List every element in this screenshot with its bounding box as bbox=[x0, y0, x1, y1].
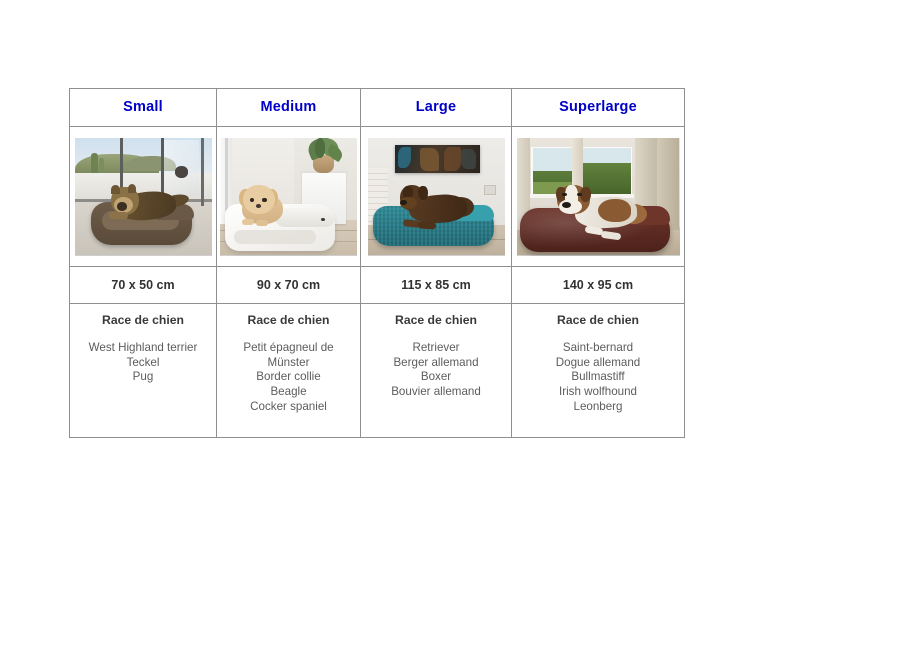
product-photo-superlarge bbox=[517, 138, 680, 256]
breed-list-medium: Petit épagneul de Münster Border collie … bbox=[217, 341, 360, 414]
dimension-label-medium: 90 x 70 cm bbox=[217, 279, 360, 292]
product-photo-medium bbox=[220, 138, 357, 256]
dimension-cell-superlarge: 140 x 95 cm bbox=[512, 267, 685, 304]
list-item: Pug bbox=[70, 370, 216, 385]
header-label-large: Large bbox=[361, 100, 511, 115]
list-item: West Highland terrier bbox=[70, 341, 216, 356]
header-label-superlarge: Superlarge bbox=[512, 100, 684, 115]
header-cell-large: Large bbox=[361, 89, 512, 127]
table-dimension-row: 70 x 50 cm 90 x 70 cm 115 x 85 cm 140 x … bbox=[70, 267, 685, 304]
photo-cell-superlarge bbox=[512, 127, 685, 267]
list-item: Teckel bbox=[70, 356, 216, 371]
breed-title-medium: Race de chien bbox=[217, 314, 360, 326]
dimension-cell-large: 115 x 85 cm bbox=[361, 267, 512, 304]
breed-cell-superlarge: Race de chien Saint-bernard Dogue allema… bbox=[512, 304, 685, 438]
list-item: Dogue allemand bbox=[512, 356, 684, 371]
list-item: Retriever bbox=[361, 341, 511, 356]
list-item: Münster bbox=[217, 356, 360, 371]
dog-bed-size-table: Small Medium Large Superlarge bbox=[69, 88, 685, 438]
dimension-cell-medium: 90 x 70 cm bbox=[217, 267, 361, 304]
breed-title-small: Race de chien bbox=[70, 314, 216, 326]
breed-list-small: West Highland terrier Teckel Pug bbox=[70, 341, 216, 385]
list-item: Petit épagneul de bbox=[217, 341, 360, 356]
list-item: Bouvier allemand bbox=[361, 385, 511, 400]
breed-cell-large: Race de chien Retriever Berger allemand … bbox=[361, 304, 512, 438]
breed-list-large: Retriever Berger allemand Boxer Bouvier … bbox=[361, 341, 511, 399]
list-item: Irish wolfhound bbox=[512, 385, 684, 400]
header-label-medium: Medium bbox=[217, 100, 360, 115]
header-cell-medium: Medium bbox=[217, 89, 361, 127]
list-item: Boxer bbox=[361, 370, 511, 385]
photo-cell-small bbox=[70, 127, 217, 267]
list-item: Bullmastiff bbox=[512, 370, 684, 385]
breed-cell-small: Race de chien West Highland terrier Teck… bbox=[70, 304, 217, 438]
dimension-label-small: 70 x 50 cm bbox=[70, 279, 216, 292]
dimension-cell-small: 70 x 50 cm bbox=[70, 267, 217, 304]
product-photo-small bbox=[75, 138, 212, 256]
table-header-row: Small Medium Large Superlarge bbox=[70, 89, 685, 127]
list-item: Cocker spaniel bbox=[217, 400, 360, 415]
table-photo-row bbox=[70, 127, 685, 267]
list-item: Beagle bbox=[217, 385, 360, 400]
breed-cell-medium: Race de chien Petit épagneul de Münster … bbox=[217, 304, 361, 438]
header-cell-superlarge: Superlarge bbox=[512, 89, 685, 127]
breed-list-superlarge: Saint-bernard Dogue allemand Bullmastiff… bbox=[512, 341, 684, 414]
photo-cell-large bbox=[361, 127, 512, 267]
breed-title-large: Race de chien bbox=[361, 314, 511, 326]
document-page: Small Medium Large Superlarge bbox=[0, 0, 900, 660]
product-photo-large bbox=[368, 138, 505, 256]
table-breed-row: Race de chien West Highland terrier Teck… bbox=[70, 304, 685, 438]
list-item: Leonberg bbox=[512, 400, 684, 415]
dimension-label-large: 115 x 85 cm bbox=[361, 279, 511, 292]
dimension-label-superlarge: 140 x 95 cm bbox=[512, 279, 684, 292]
list-item: Border collie bbox=[217, 370, 360, 385]
photo-cell-medium bbox=[217, 127, 361, 267]
header-label-small: Small bbox=[70, 100, 216, 115]
header-cell-small: Small bbox=[70, 89, 217, 127]
list-item: Berger allemand bbox=[361, 356, 511, 371]
list-item: Saint-bernard bbox=[512, 341, 684, 356]
breed-title-superlarge: Race de chien bbox=[512, 314, 684, 326]
